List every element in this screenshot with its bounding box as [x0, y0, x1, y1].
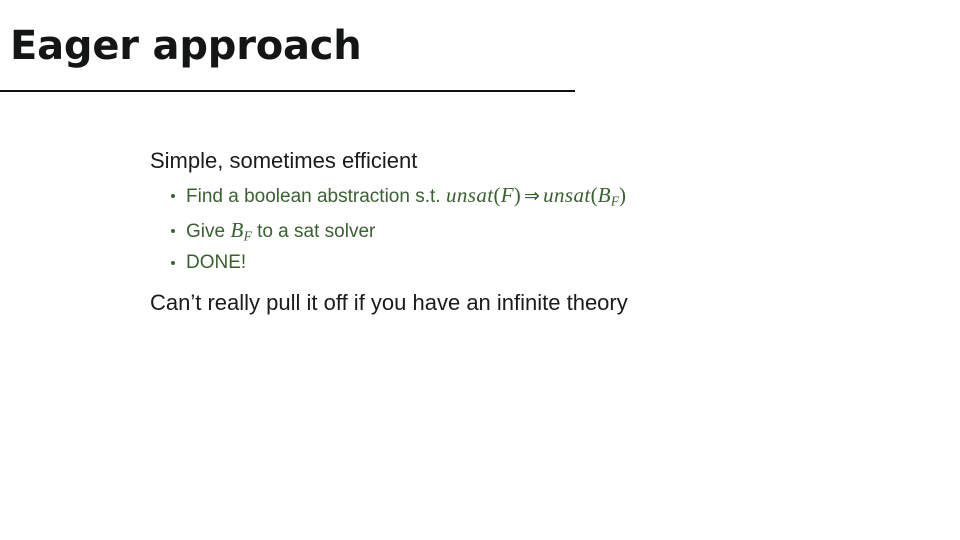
title-divider: [0, 90, 575, 92]
bullet-dot-icon: [171, 261, 175, 265]
bullet-text-give: Give: [186, 221, 225, 242]
bullet-text-sat-solver: to a sat solver: [257, 221, 375, 242]
math-paren-open-1: (: [494, 183, 501, 207]
page-title: Eager approach: [10, 24, 710, 68]
title-block: Eager approach: [10, 24, 710, 68]
math-arg-f: F: [501, 183, 514, 207]
math-paren-open-2: (: [591, 183, 598, 207]
math-expression-implication: unsat(F)⇒unsat(BF): [441, 183, 627, 207]
slide: Eager approach Simple, sometimes efficie…: [0, 0, 960, 540]
list-item: Give BF to a sat solver: [150, 213, 910, 248]
math-arg-b-subscript: F: [244, 229, 252, 244]
math-arg-b: B: [231, 218, 244, 242]
math-paren-close-1: ): [514, 183, 521, 207]
math-expression-bf: BF: [225, 218, 252, 242]
list-item: DONE!: [150, 248, 910, 279]
body-line-infinite-theory: Can’t really pull it off if you have an …: [150, 288, 910, 318]
bullet-text-done: DONE!: [186, 252, 246, 273]
bullet-text-find: Find a boolean abstraction s.t.: [186, 186, 441, 207]
body-content: Simple, sometimes efficient Find a boole…: [150, 146, 910, 318]
math-fn-unsat-2: unsat: [543, 183, 591, 207]
math-fn-unsat-1: unsat: [446, 183, 494, 207]
math-arg-b-subscript: F: [611, 194, 619, 209]
bullet-list: Find a boolean abstraction s.t. unsat(F)…: [150, 178, 910, 278]
math-paren-close-2: ): [619, 183, 626, 207]
list-item: Find a boolean abstraction s.t. unsat(F)…: [150, 178, 910, 213]
math-arg-b: B: [598, 183, 611, 207]
bullet-dot-icon: [171, 229, 175, 233]
bullet-dot-icon: [171, 194, 175, 198]
body-line-simple: Simple, sometimes efficient: [150, 146, 910, 176]
math-implies-operator: ⇒: [521, 185, 543, 207]
